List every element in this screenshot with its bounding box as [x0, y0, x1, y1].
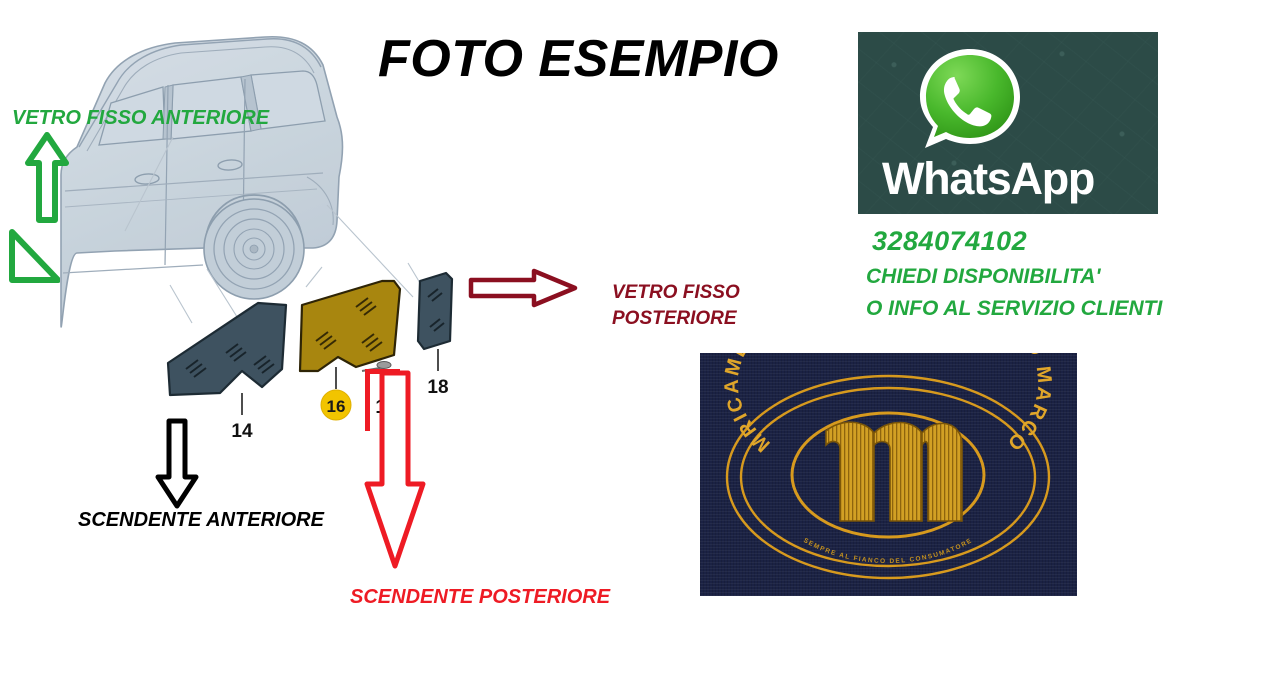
arrow-right-icon — [468, 268, 578, 308]
arrow-down-icon — [364, 370, 426, 570]
label-vetro-fisso-anteriore: VETRO FISSO ANTERIORE — [12, 107, 269, 130]
svg-text:14: 14 — [231, 421, 253, 442]
svg-text:18: 18 — [427, 377, 448, 398]
label-vetro-fisso-posteriore: VETRO FISSO POSTERIORE — [612, 280, 740, 331]
exploded-glass-parts: 14 16 17 — [150, 245, 480, 445]
shop-logo-monogram — [826, 422, 962, 521]
contact-phone-number[interactable]: 3284074102 — [872, 226, 1027, 257]
contact-line-2: O INFO AL SERVIZIO CLIENTI — [866, 297, 1162, 321]
arrow-down-icon — [155, 417, 199, 509]
whatsapp-phone-icon — [915, 44, 1025, 156]
page-title: FOTO ESEMPIO — [378, 33, 779, 85]
contact-line-1: CHIEDI DISPONIBILITA' — [866, 265, 1100, 289]
label-vetro-fisso-posteriore-line1: VETRO FISSO — [612, 280, 740, 306]
whatsapp-wordmark: WhatsApp — [882, 156, 1094, 201]
label-vetro-fisso-posteriore-line2: POSTERIORE — [612, 306, 740, 332]
glass-parts-svg: 14 16 17 — [150, 245, 480, 445]
svg-text:SEMPRE AL FIANCO DEL CONSUMATO: SEMPRE AL FIANCO DEL CONSUMATORE — [802, 537, 974, 565]
shop-logo: MRICAMBISTORE SERVICE DI RUSSO MARCO SEM… — [700, 353, 1077, 596]
arrow-up-icon — [25, 132, 69, 224]
shop-logo-emblem-icon: MRICAMBISTORE SERVICE DI RUSSO MARCO SEM… — [700, 353, 1077, 596]
label-scendente-anteriore: SCENDENTE ANTERIORE — [78, 509, 324, 532]
svg-text:16: 16 — [327, 397, 346, 416]
label-scendente-posteriore: SCENDENTE POSTERIORE — [350, 586, 610, 609]
triangle-outline-icon — [8, 228, 60, 284]
poster-canvas: 14 16 17 — [0, 0, 1264, 678]
shop-logo-tagline: SEMPRE AL FIANCO DEL CONSUMATORE — [802, 537, 974, 565]
whatsapp-banner[interactable]: WhatsApp — [858, 32, 1158, 214]
